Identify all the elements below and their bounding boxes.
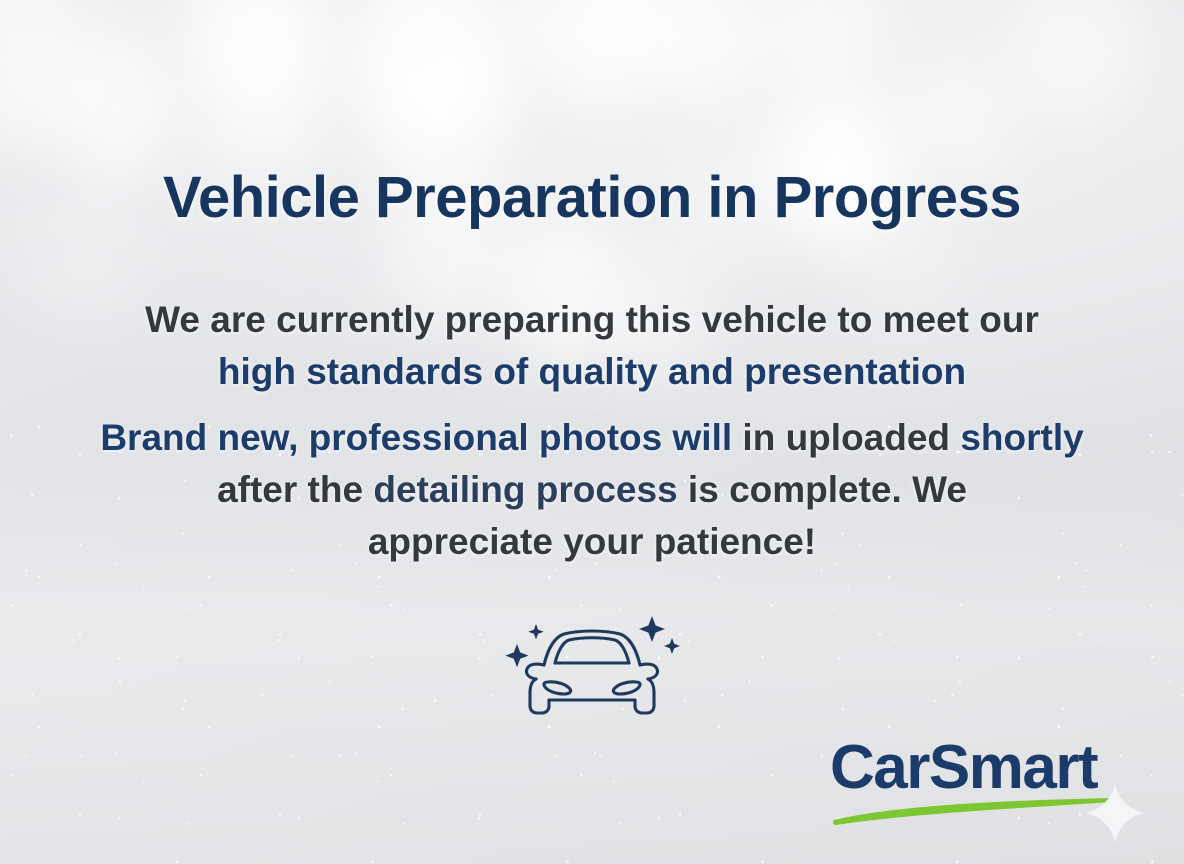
diamond-sparkle-icon bbox=[1084, 782, 1146, 844]
green-swoosh-icon bbox=[832, 796, 1114, 826]
message-line-2: high standards of quality and presentati… bbox=[0, 346, 1184, 398]
message-line-3-part-c: shortly bbox=[960, 417, 1083, 458]
message-line-3: Brand new, professional photos will in u… bbox=[0, 412, 1184, 464]
message-line-4-part-a: after the bbox=[217, 469, 373, 510]
message-line-1: We are currently preparing this vehicle … bbox=[0, 294, 1184, 346]
vehicle-preparation-placeholder: Vehicle Preparation in Progress We are c… bbox=[0, 0, 1184, 864]
sparkle-icon bbox=[505, 624, 543, 667]
message-line-3-part-b: in uploaded bbox=[732, 417, 960, 458]
message-line-5: appreciate your patience! bbox=[0, 516, 1184, 568]
message-line-4-part-c: is complete. We bbox=[678, 469, 967, 510]
carsmart-logo: CarSmart bbox=[830, 734, 1140, 838]
sparkle-icon bbox=[639, 616, 680, 654]
page-title: Vehicle Preparation in Progress bbox=[0, 164, 1184, 231]
message-line-4-part-b: detailing process bbox=[373, 469, 677, 510]
message-line-3-part-a: Brand new, professional photos will bbox=[100, 417, 732, 458]
sparkling-car-icon bbox=[496, 608, 688, 726]
message-line-4: after the detailing process is complete.… bbox=[0, 464, 1184, 516]
carsmart-wordmark: CarSmart bbox=[830, 734, 1097, 802]
message-block: We are currently preparing this vehicle … bbox=[0, 294, 1184, 568]
